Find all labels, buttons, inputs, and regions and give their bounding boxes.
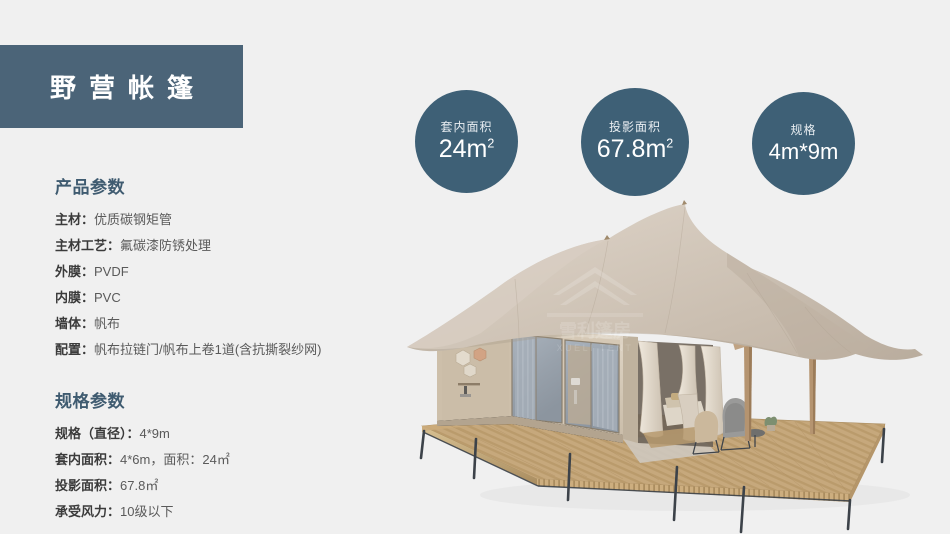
tent-illustration: 雪利篷房 XUELI TENT [395, 195, 950, 534]
spec-key: 主材工艺： [55, 238, 120, 253]
badge-size: 规格 4m*9m [752, 92, 855, 195]
watermark-en-text: XUELI TENT [557, 343, 634, 353]
spec-row: 内膜：PVC [55, 285, 385, 311]
spec-value: PVC [94, 290, 121, 305]
page-root: 野营帐篷 产品参数 主材：优质碳钢矩管 主材工艺：氟碳漆防锈处理 外膜：PVDF… [0, 0, 950, 534]
spec-value: 优质碳钢矩管 [94, 212, 172, 227]
title-banner: 野营帐篷 [0, 45, 243, 128]
spec-row: 套内面积：4*6m，面积：24㎡ [55, 447, 385, 473]
spec-row: 主材工艺：氟碳漆防锈处理 [55, 233, 385, 259]
spec-panel: 产品参数 主材：优质碳钢矩管 主材工艺：氟碳漆防锈处理 外膜：PVDF 内膜：P… [55, 173, 385, 525]
badge-value-main: 67.8m [597, 135, 666, 163]
spec-row: 主材：优质碳钢矩管 [55, 207, 385, 233]
badge-label: 套内面积 [440, 121, 492, 134]
badge-interior-area: 套内面积 24m2 [415, 90, 518, 193]
badge-value-sup: 2 [666, 137, 673, 151]
spec-row: 配置：帆布拉链门/帆布上卷1道(含抗撕裂纱网) [55, 337, 385, 363]
spec-value: PVDF [94, 264, 129, 279]
spec-key: 外膜： [55, 264, 94, 279]
spec-row: 投影面积：67.8㎡ [55, 473, 385, 499]
section-product-parameters: 产品参数 主材：优质碳钢矩管 主材工艺：氟碳漆防锈处理 外膜：PVDF 内膜：P… [55, 173, 385, 363]
wall-shelf [458, 383, 480, 385]
tent-render-svg: 雪利篷房 XUELI TENT [395, 195, 950, 534]
badge-value: 67.8m2 [597, 136, 673, 162]
watermark-cn-text: 雪利篷房 [559, 320, 631, 341]
section-heading-product: 产品参数 [55, 173, 385, 198]
section-divider-space [55, 363, 385, 387]
spec-value: 67.8㎡ [120, 478, 158, 493]
spec-row: 规格（直径）：4*9m [55, 421, 385, 447]
spec-key: 投影面积： [55, 478, 120, 493]
spec-row: 墙体：帆布 [55, 311, 385, 337]
spec-key: 配置： [55, 342, 94, 357]
tent-canopy [407, 200, 923, 360]
spec-key: 套内面积： [55, 452, 120, 467]
badge-label: 投影面积 [609, 121, 661, 134]
spec-value: 帆布 [94, 316, 120, 331]
badge-value: 24m2 [439, 136, 495, 162]
spec-value: 10级以下 [120, 504, 173, 519]
badge-projected-area: 投影面积 67.8m2 [581, 88, 689, 196]
spec-key: 内膜： [55, 290, 94, 305]
section-specification-parameters: 规格参数 规格（直径）：4*9m 套内面积：4*6m，面积：24㎡ 投影面积：6… [55, 387, 385, 525]
badge-value-main: 4m*9m [769, 139, 839, 164]
spec-row: 外膜：PVDF [55, 259, 385, 285]
spec-row: 承受风力：10级以下 [55, 499, 385, 525]
badge-value-main: 24m [439, 135, 488, 163]
badge-value: 4m*9m [769, 140, 839, 163]
page-title: 野营帐篷 [37, 68, 206, 105]
spec-key: 墙体： [55, 316, 94, 331]
spec-value: 帆布拉链门/帆布上卷1道(含抗撕裂纱网) [94, 342, 322, 357]
canopy-peak-right [682, 200, 687, 205]
spec-value: 4*6m，面积：24㎡ [120, 452, 230, 467]
section-heading-specification: 规格参数 [55, 387, 385, 412]
spec-value: 氟碳漆防锈处理 [120, 238, 211, 253]
spec-key: 主材： [55, 212, 94, 227]
spec-value: 4*9m [140, 426, 170, 441]
spec-key: 规格（直径）： [55, 426, 140, 441]
badge-label: 规格 [790, 124, 816, 137]
badge-value-sup: 2 [487, 137, 494, 151]
spec-key: 承受风力： [55, 504, 120, 519]
